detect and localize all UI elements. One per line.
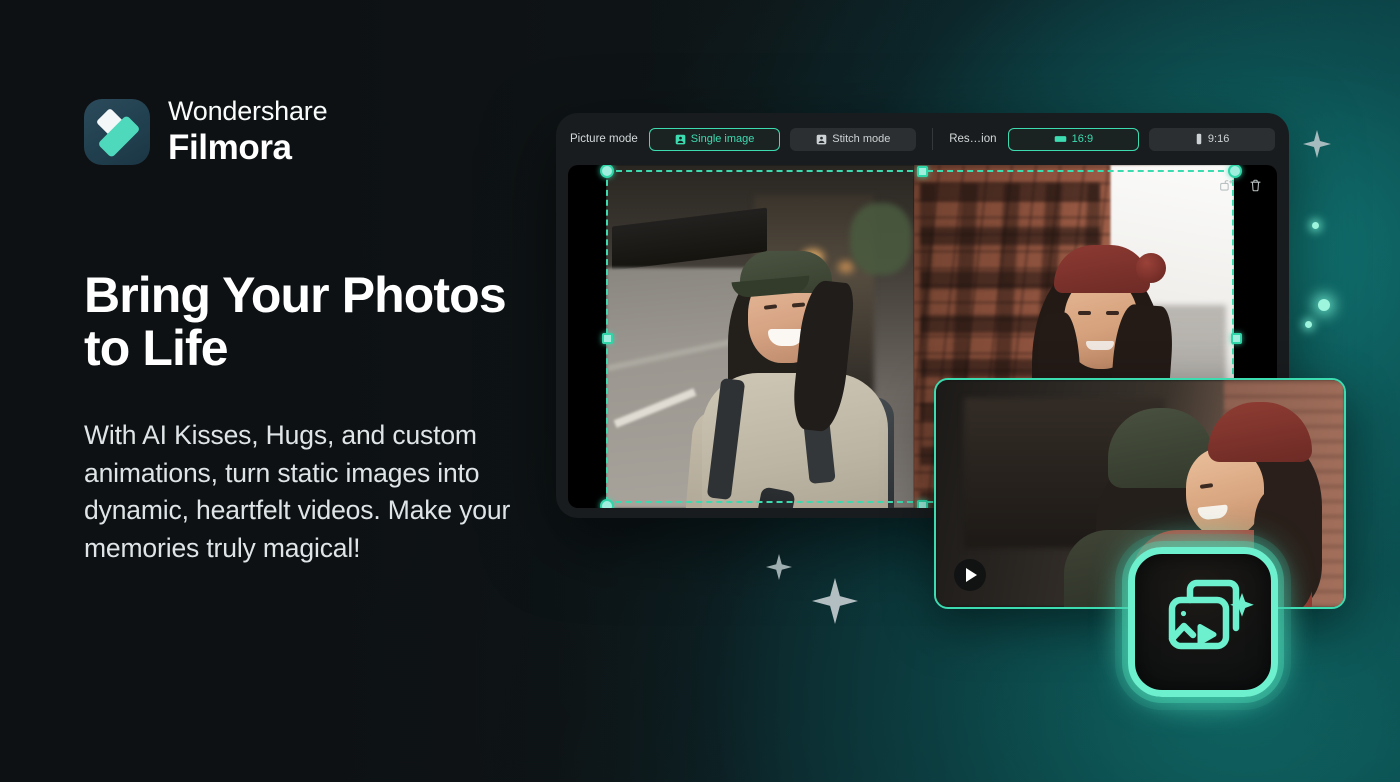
sparkle-top-right (1303, 130, 1331, 158)
ratio-16-9-button[interactable]: 16:9 (1008, 128, 1140, 151)
ratio-9-16-label: 9:16 (1208, 133, 1229, 145)
stitch-mode-icon (816, 134, 827, 145)
picture-mode-label: Picture mode (570, 133, 638, 145)
play-triangle (966, 568, 977, 582)
glow-dot-3 (1305, 321, 1312, 328)
photo-a-light-2 (838, 261, 854, 273)
photo-b-eye-left (1078, 311, 1091, 315)
sparkle-center (766, 554, 792, 580)
canvas-tool-row (1219, 178, 1263, 193)
photo-b-eye-right (1106, 311, 1119, 315)
single-image-icon (675, 134, 686, 145)
picture-mode-stitch-label: Stitch mode (832, 133, 890, 145)
sparkle-center-large (812, 578, 858, 624)
photo-b-smile (1086, 341, 1114, 350)
brand-product-name: Filmora (168, 130, 327, 165)
picture-mode-stitch-button[interactable]: Stitch mode (790, 128, 916, 151)
delete-icon[interactable] (1248, 178, 1263, 193)
brand-lockup: Wondershare Filmora (84, 98, 554, 165)
ratio-9-16-button[interactable]: 9:16 (1149, 128, 1275, 151)
photo-a-tree (850, 203, 912, 275)
resolution-label: Res…ion (949, 133, 996, 145)
hero-body-text: With AI Kisses, Hugs, and custom animati… (84, 417, 524, 568)
portrait-ratio-icon (1195, 133, 1203, 145)
play-icon[interactable] (954, 559, 986, 591)
ai-photo-to-video-icon[interactable] (1128, 547, 1278, 697)
landscape-ratio-icon (1054, 134, 1067, 144)
icon-glyph (1128, 547, 1278, 697)
photo-b-beanie-pom (1136, 253, 1166, 283)
picture-mode-single-image-label: Single image (691, 133, 755, 145)
app-toolbar: Picture mode Single image (556, 113, 1289, 165)
toolbar-divider (932, 128, 933, 150)
photo-smiling-woman-cap[interactable] (606, 165, 914, 508)
brand-wordmark: Wondershare Filmora (168, 98, 327, 165)
hero-copy-column: Wondershare Filmora Bring Your Photos to… (84, 98, 554, 568)
hero-banner: Wondershare Filmora Bring Your Photos to… (0, 0, 1400, 782)
glow-dot-2 (1318, 299, 1330, 311)
filmora-logo-icon (84, 99, 150, 165)
ratio-16-9-label: 16:9 (1072, 133, 1093, 145)
picture-mode-single-image-button[interactable]: Single image (649, 128, 781, 151)
hero-headline: Bring Your Photos to Life (84, 269, 554, 375)
replace-image-icon[interactable] (1219, 178, 1234, 193)
brand-company-name: Wondershare (168, 98, 327, 125)
glow-dot-1 (1312, 222, 1319, 229)
